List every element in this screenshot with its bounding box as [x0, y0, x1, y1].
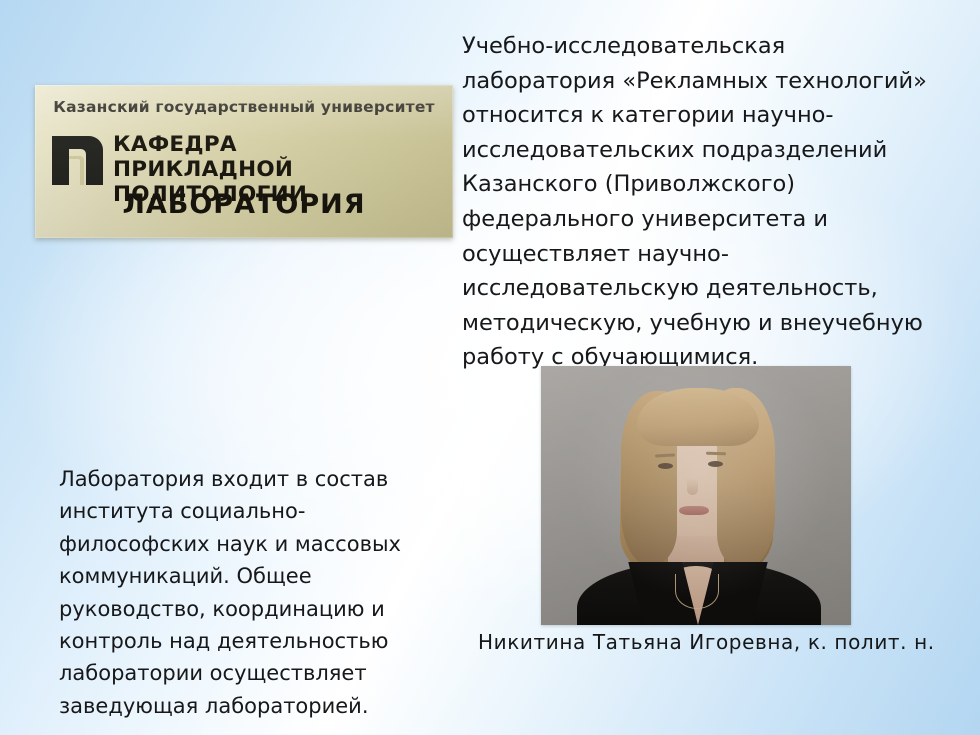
presentation-slide: Казанский государственный университет КА… — [0, 0, 980, 735]
portrait-vignette — [541, 366, 851, 625]
portrait-caption: Никитина Татьяна Игоревна, к. полит. н. — [478, 630, 935, 654]
left-body-paragraph: Лаборатория входит в состав института со… — [59, 463, 439, 722]
plaque-department-line1: КАФЕДРА — [113, 132, 447, 157]
right-body-paragraph: Учебно-исследовательская лаборатория «Ре… — [462, 29, 940, 375]
ksu-emblem-icon — [50, 134, 105, 187]
plaque-laboratory-line: ЛАБОРАТОРИЯ — [35, 189, 453, 220]
portrait-photo-nikitina — [541, 366, 851, 625]
plaque-university-line: Казанский государственный университет — [35, 98, 453, 116]
laboratory-plaque-image: Казанский государственный университет КА… — [35, 85, 453, 238]
